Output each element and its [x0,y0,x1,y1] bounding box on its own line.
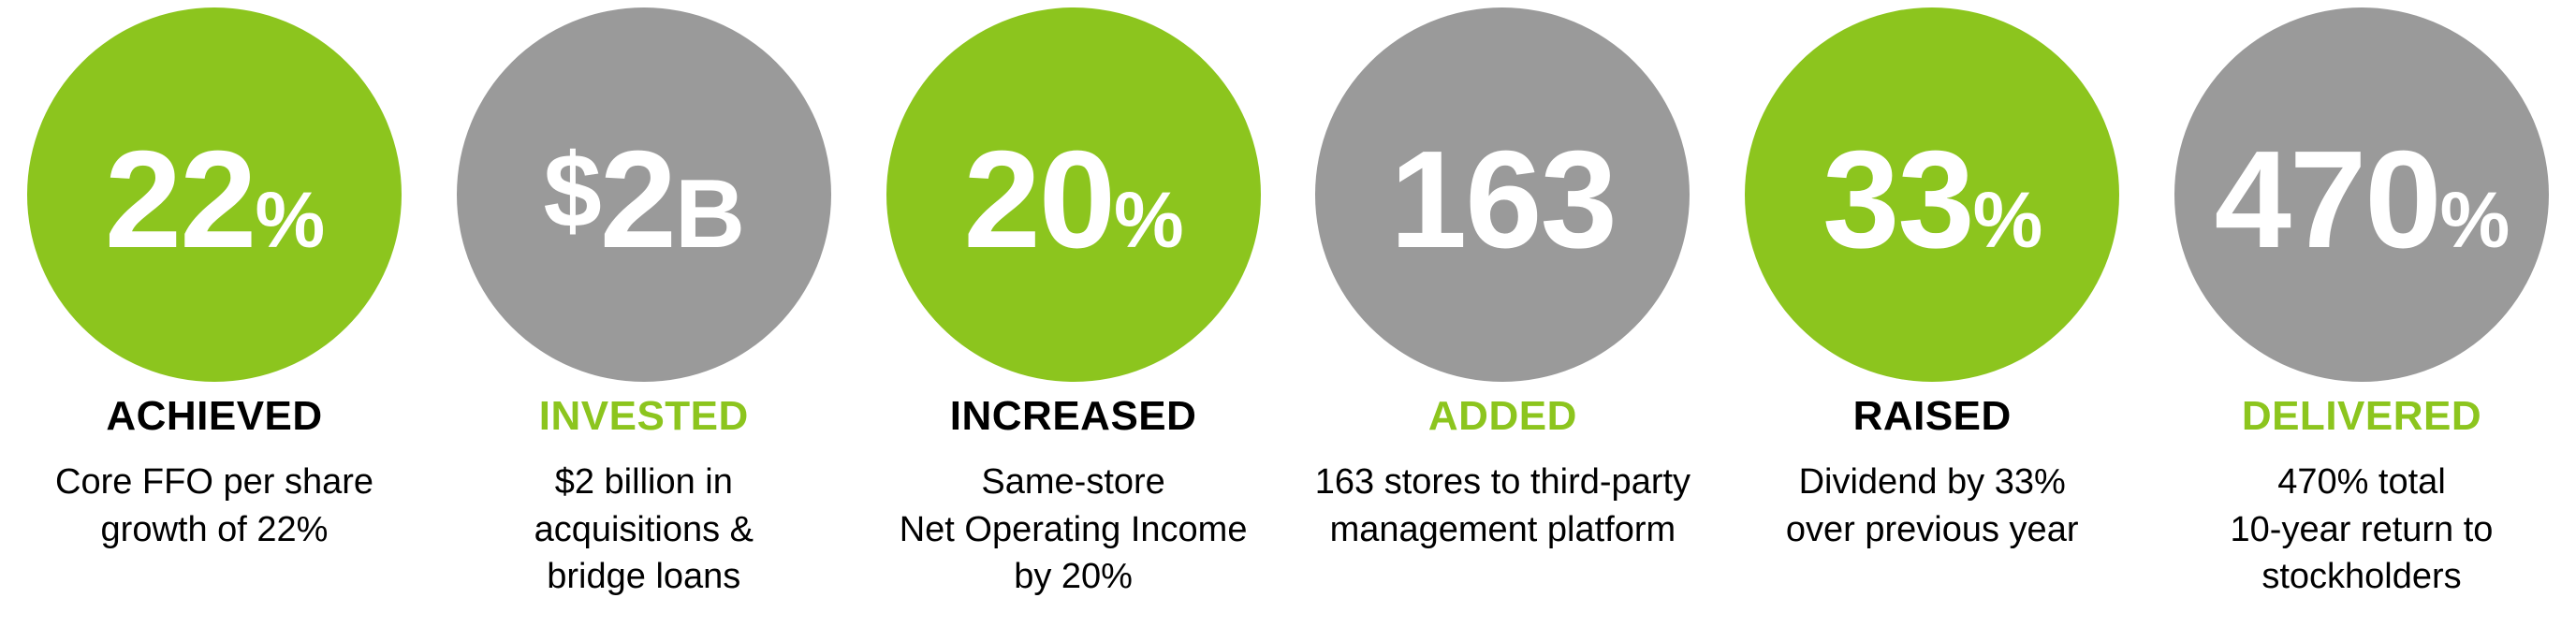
stat-label-delivered: DELIVERED [2242,395,2481,438]
stat-description-added: 163 stores to third-party management pla… [1296,459,1708,553]
stat-value-added: 163 [1390,131,1616,270]
desc-line: Same-store [868,459,1280,506]
stat-label-achieved: ACHIEVED [106,395,322,438]
stat-label-invested: INVESTED [539,395,749,438]
stat-circle-invested: $2B [457,7,831,382]
stat-circle-delivered: 470% [2174,7,2549,382]
desc-line: stockholders [2156,553,2568,601]
stat-column-raised: 33% RAISED Dividend by 33% over previous… [1718,0,2146,627]
stat-description-increased: Same-store Net Operating Income by 20% [868,459,1280,601]
stat-description-invested: $2 billion in acquisitions & bridge loan… [438,459,850,601]
stat-value-unit: % [1973,181,2042,259]
stat-column-added: 163 ADDED 163 stores to third-party mana… [1288,0,1717,627]
stat-value-number: 470 [2215,131,2440,270]
stat-value-number: 2 [600,131,675,270]
stat-value-unit: B [675,166,744,263]
stat-value-number: 20 [963,131,1114,270]
stat-value-currency-symbol: $ [543,139,599,243]
stat-circle-achieved: 22% [27,7,402,382]
desc-line: 163 stores to third-party [1296,459,1708,506]
stat-value-number: 163 [1390,131,1616,270]
stat-description-achieved: Core FFO per share growth of 22% [8,459,420,553]
desc-line: Net Operating Income [868,506,1280,554]
desc-line: management platform [1296,506,1708,554]
desc-line: by 20% [868,553,1280,601]
stat-circle-added: 163 [1315,7,1690,382]
stat-value-achieved: 22% [105,131,324,270]
desc-line: Core FFO per share [8,459,420,506]
stat-value-invested: $2B [543,131,744,270]
stat-label-increased: INCREASED [950,395,1197,438]
stat-column-achieved: 22% ACHIEVED Core FFO per share growth o… [0,0,429,627]
stat-value-increased: 20% [963,131,1182,270]
stat-value-delivered: 470% [2215,131,2510,270]
stat-label-added: ADDED [1428,395,1577,438]
desc-line: over previous year [1726,506,2138,554]
stat-value-raised: 33% [1822,131,2042,270]
stat-column-invested: $2B INVESTED $2 billion in acquisitions … [430,0,858,627]
desc-line: bridge loans [438,553,850,601]
desc-line: Dividend by 33% [1726,459,2138,506]
stat-circle-raised: 33% [1745,7,2119,382]
desc-line: growth of 22% [8,506,420,554]
desc-line: 470% total [2156,459,2568,506]
desc-line: 10-year return to [2156,506,2568,554]
stat-value-unit: % [255,181,324,259]
stat-column-delivered: 470% DELIVERED 470% total 10-year return… [2147,0,2576,627]
desc-line: $2 billion in [438,459,850,506]
stat-value-unit: % [1114,181,1183,259]
stat-description-raised: Dividend by 33% over previous year [1726,459,2138,553]
stat-circle-increased: 20% [886,7,1261,382]
stat-column-increased: 20% INCREASED Same-store Net Operating I… [859,0,1288,627]
stats-highlight-board: 22% ACHIEVED Core FFO per share growth o… [0,0,2576,627]
stat-value-number: 33 [1822,131,1973,270]
desc-line: acquisitions & [438,506,850,554]
stat-description-delivered: 470% total 10-year return to stockholder… [2156,459,2568,601]
stat-value-number: 22 [105,131,256,270]
stat-value-unit: % [2440,181,2510,259]
stat-label-raised: RAISED [1853,395,2012,438]
